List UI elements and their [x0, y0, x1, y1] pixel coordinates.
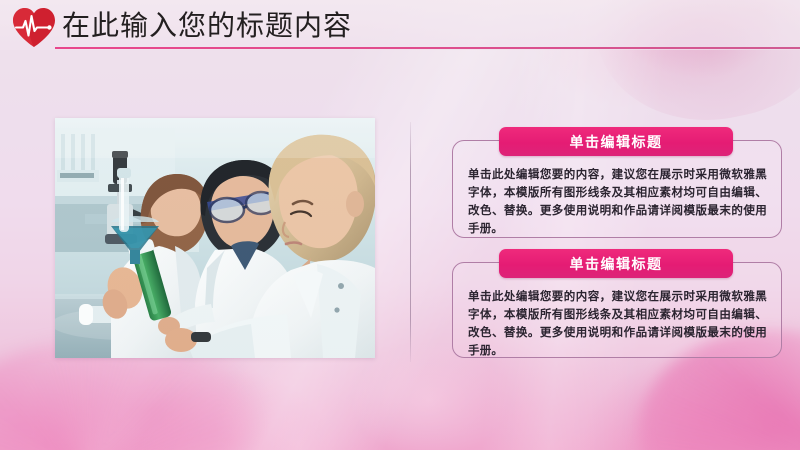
card-1-badge[interactable]: 单击编辑标题 — [499, 127, 733, 156]
content-card-2[interactable]: 单击编辑标题 单击此处编辑您要的内容，建议您在展示时采用微软雅黑字体，本模版所有… — [452, 262, 782, 358]
page-title: 在此输入您的标题内容 — [62, 8, 352, 44]
card-1-body-text: 单击此处编辑您要的内容，建议您在展示时采用微软雅黑字体，本模版所有图形线条及其相… — [468, 165, 767, 237]
card-2-body-text: 单击此处编辑您要的内容，建议您在展示时采用微软雅黑字体，本模版所有图形线条及其相… — [468, 287, 767, 359]
heart-pulse-icon — [10, 5, 58, 49]
card-2-badge[interactable]: 单击编辑标题 — [499, 249, 733, 278]
vertical-divider — [410, 122, 411, 362]
content-card-1[interactable]: 单击编辑标题 单击此处编辑您要的内容，建议您在展示时采用微软雅黑字体，本模版所有… — [452, 140, 782, 238]
header-divider-rule — [55, 47, 800, 49]
lab-photo — [55, 118, 375, 358]
lab-photo-image — [55, 118, 375, 358]
card-2-badge-label: 单击编辑标题 — [570, 254, 663, 274]
slide-canvas: 在此输入您的标题内容 — [0, 0, 800, 450]
card-1-badge-label: 单击编辑标题 — [570, 132, 663, 152]
